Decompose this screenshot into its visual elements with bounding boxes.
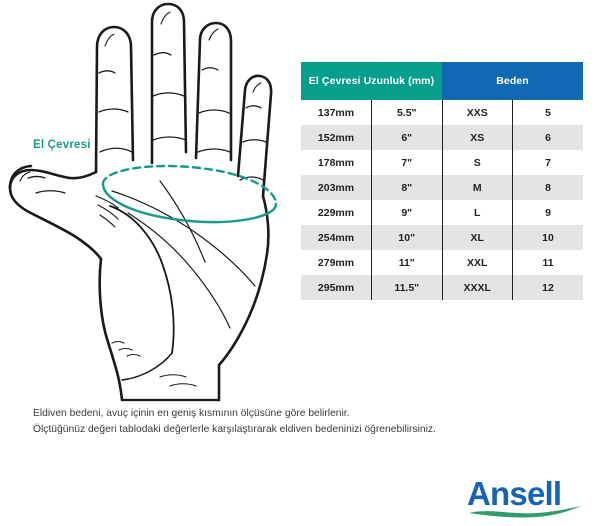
cell-size-letter: XS — [442, 125, 513, 150]
cell-circumference-inch: 5.5" — [372, 100, 443, 125]
cell-circumference-mm: 178mm — [301, 150, 372, 175]
cell-size-number: 7 — [513, 150, 584, 175]
table-row: 229mm 9" L 9 — [301, 200, 583, 225]
table-body: 137mm 5.5" XXS 5 152mm 6" XS 6 178mm 7" … — [301, 100, 583, 300]
cell-size-letter: XXXL — [442, 275, 513, 300]
cell-circumference-inch: 9" — [372, 200, 443, 225]
cell-circumference-inch: 6" — [372, 125, 443, 150]
header-size: Beden — [442, 62, 583, 100]
cell-size-letter: M — [442, 175, 513, 200]
cell-circumference-mm: 152mm — [301, 125, 372, 150]
table-row: 203mm 8" M 8 — [301, 175, 583, 200]
table-row: 295mm 11.5" XXXL 12 — [301, 275, 583, 300]
cell-circumference-inch: 11" — [372, 250, 443, 275]
header-circumference: El Çevresi Uzunluk (mm) — [301, 62, 442, 100]
instructions-text: Eldiven bedeni, avuç içinin en geniş kıs… — [33, 406, 573, 438]
ansell-logo: Ansell — [467, 478, 583, 518]
hand-palm-diagram — [0, 0, 300, 410]
cell-size-number: 12 — [513, 275, 584, 300]
hand-circumference-label: El Çevresi — [33, 139, 91, 151]
cell-circumference-inch: 11.5" — [372, 275, 443, 300]
table-row: 178mm 7" S 7 — [301, 150, 583, 175]
cell-circumference-mm: 203mm — [301, 175, 372, 200]
cell-size-number: 10 — [513, 225, 584, 250]
cell-size-letter: XXL — [442, 250, 513, 275]
cell-size-letter: XL — [442, 225, 513, 250]
cell-circumference-mm: 254mm — [301, 225, 372, 250]
cell-circumference-mm: 295mm — [301, 275, 372, 300]
table-header-row: El Çevresi Uzunluk (mm) Beden — [301, 62, 583, 100]
instructions-line-2: Ölçtüğünüz değeri tablodaki değerlerle k… — [33, 422, 573, 438]
cell-size-number: 9 — [513, 200, 584, 225]
cell-size-number: 6 — [513, 125, 584, 150]
table-header: El Çevresi Uzunluk (mm) Beden — [301, 62, 583, 100]
cell-size-letter: XXS — [442, 100, 513, 125]
cell-size-letter: S — [442, 150, 513, 175]
instructions-line-1: Eldiven bedeni, avuç içinin en geniş kıs… — [33, 406, 573, 422]
cell-circumference-inch: 10" — [372, 225, 443, 250]
cell-size-number: 11 — [513, 250, 584, 275]
cell-size-number: 5 — [513, 100, 584, 125]
cell-size-letter: L — [442, 200, 513, 225]
table-row: 152mm 6" XS 6 — [301, 125, 583, 150]
cell-circumference-inch: 8" — [372, 175, 443, 200]
glove-size-table: El Çevresi Uzunluk (mm) Beden 137mm 5.5"… — [301, 62, 583, 300]
table-row: 254mm 10" XL 10 — [301, 225, 583, 250]
table-row: 137mm 5.5" XXS 5 — [301, 100, 583, 125]
glove-size-chart-page: El Çevresi El Çevresi Uzunluk (mm) Beden… — [0, 0, 600, 526]
cell-circumference-inch: 7" — [372, 150, 443, 175]
ansell-wordmark: Ansell — [467, 478, 561, 512]
cell-size-number: 8 — [513, 175, 584, 200]
cell-circumference-mm: 279mm — [301, 250, 372, 275]
cell-circumference-mm: 229mm — [301, 200, 372, 225]
table-row: 279mm 11" XXL 11 — [301, 250, 583, 275]
cell-circumference-mm: 137mm — [301, 100, 372, 125]
